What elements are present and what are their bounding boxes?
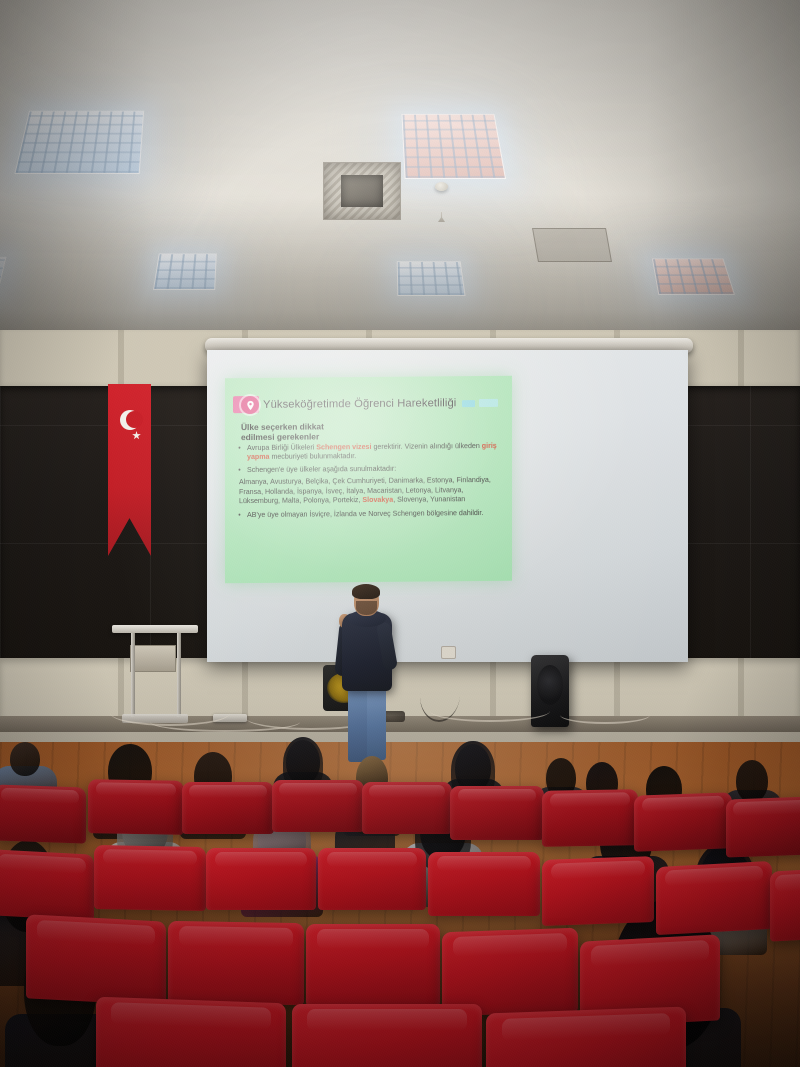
slide-subtitle-line2: edilmesi gerekenler: [241, 430, 491, 442]
country-list-line: Yunanistan: [430, 495, 465, 503]
floor-cable: [560, 706, 650, 724]
country-list-line: Almanya, Avusturya, Belçika, Çek Cumhuri…: [239, 477, 455, 487]
wall-power-outlet: [441, 646, 456, 659]
auditorium-seat[interactable]: [88, 779, 184, 835]
auditorium-seat[interactable]: [94, 845, 206, 911]
auditorium-seat[interactable]: [96, 997, 286, 1067]
slide-brand-marks: [462, 399, 498, 407]
auditorium-seat[interactable]: [450, 786, 544, 840]
presentation-slide: Yükseköğretimde Öğrenci Hareketliliği Ül…: [225, 376, 512, 584]
bullet-marker: •: [237, 511, 242, 520]
auditorium-seat[interactable]: [306, 924, 440, 1006]
country-list-line: , Slovenya,: [393, 496, 428, 504]
attendee-head: [10, 742, 40, 776]
slide-subtitle: Ülke seçerken dikkat edilmesi gerekenler: [241, 420, 491, 443]
auditorium-seat[interactable]: [168, 921, 304, 1005]
auditorium-seat[interactable]: [634, 792, 732, 851]
auditorium-photo: Yükseköğretimde Öğrenci Hareketliliği Ül…: [0, 0, 800, 1067]
auditorium-seat[interactable]: [292, 1004, 482, 1067]
auditorium-seat[interactable]: [0, 784, 86, 843]
auditorium-seat[interactable]: [272, 780, 364, 832]
auditorium-seat[interactable]: [26, 914, 166, 1005]
bullet-segment: Avrupa Birliği Ülkeleri: [247, 443, 316, 452]
presenter-speaker: [336, 586, 398, 768]
auditorium-seat[interactable]: [0, 849, 94, 920]
bullet-text: AB'ye üye olmayan İsviçre, İzlanda ve No…: [247, 508, 503, 520]
floor-cable: [430, 700, 550, 722]
auditorium-seat[interactable]: [428, 852, 540, 916]
slide-header: Yükseköğretimde Öğrenci Hareketliliği: [233, 392, 504, 416]
bullet-marker: •: [237, 466, 242, 475]
slide-bullet: • Schengen'e üye ülkeler aşağıda sunulma…: [237, 464, 503, 476]
auditorium-seat[interactable]: [656, 861, 772, 935]
auditorium-seat[interactable]: [318, 848, 426, 910]
slide-body: • Avrupa Birliği Ülkeleri Schengen vizes…: [237, 442, 503, 523]
lectern-top-surface: [112, 625, 198, 633]
bullet-text: Schengen'e üye ülkeler aşağıda sunulmakt…: [247, 464, 503, 476]
presenter-leg-right: [367, 686, 386, 760]
auditorium-seat[interactable]: [206, 848, 316, 910]
suspended-tile-ceiling: [0, 0, 800, 352]
slide-title: Yükseköğretimde Öğrenci Hareketliliği: [263, 397, 456, 411]
auditorium-seat[interactable]: [486, 1007, 686, 1067]
pull-down-projection-screen: Yükseköğretimde Öğrenci Hareketliliği Ül…: [207, 350, 688, 662]
crescent-icon: [120, 410, 140, 430]
brand-mark-icon: [462, 400, 475, 407]
auditorium-seat[interactable]: [542, 856, 654, 926]
auditorium-seat[interactable]: [362, 782, 452, 834]
lectern-shelf: [130, 645, 176, 672]
country-list: Almanya, Avusturya, Belçika, Çek Cumhuri…: [239, 476, 503, 507]
bullet-text: Avrupa Birliği Ülkeleri Schengen vizesi …: [247, 442, 503, 463]
bullet-highlight: Schengen vizesi: [316, 443, 371, 451]
presenter-beard: [356, 601, 377, 615]
attendee-head: [736, 760, 768, 802]
bullet-marker: •: [237, 444, 242, 463]
slide-bullet: • AB'ye üye olmayan İsviçre, İzlanda ve …: [237, 508, 503, 520]
country-list-highlight: Slovakya: [362, 496, 393, 504]
star-icon: [132, 431, 141, 440]
auditorium-seat[interactable]: [542, 789, 638, 847]
auditorium-seat[interactable]: [770, 868, 800, 941]
presenter-leg-left: [348, 686, 367, 762]
auditorium-seat[interactable]: [182, 782, 274, 834]
slide-bullet: • Avrupa Birliği Ülkeleri Schengen vizes…: [237, 442, 503, 463]
bullet-segment: gerektirir. Vizenin alındığı ülkeden: [371, 442, 481, 451]
brand-mark-icon: [479, 399, 498, 407]
ceiling-shading: [0, 0, 800, 352]
presenter-hair: [352, 584, 380, 599]
location-pin-icon: [241, 396, 259, 414]
bullet-segment: mecburiyeti bulunmaktadır.: [269, 453, 356, 462]
auditorium-seat[interactable]: [726, 796, 800, 857]
